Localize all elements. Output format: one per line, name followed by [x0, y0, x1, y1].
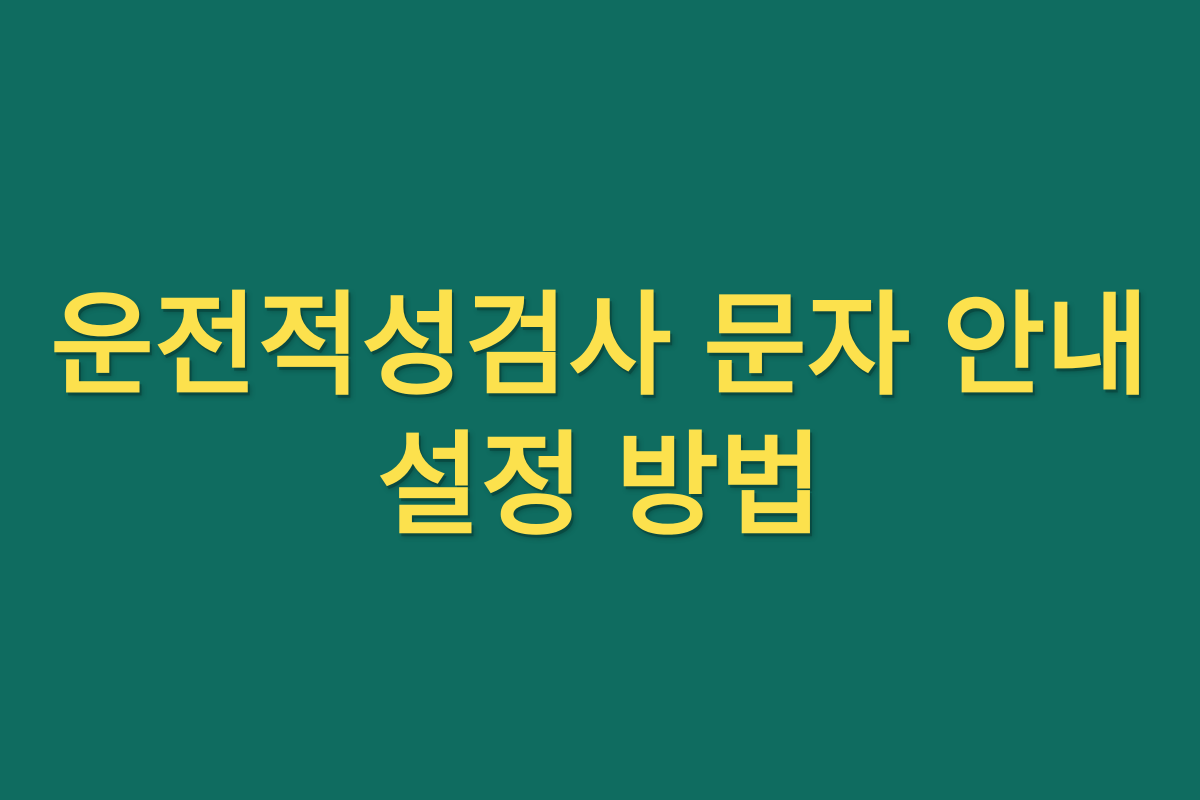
title-line-1: 운전적성검사 문자 안내	[51, 276, 1150, 416]
poster-canvas: 운전적성검사 문자 안내 설정 방법	[0, 0, 1200, 800]
title-line-2: 설정 방법	[377, 416, 823, 556]
title-block: 운전적성검사 문자 안내 설정 방법	[0, 276, 1200, 556]
